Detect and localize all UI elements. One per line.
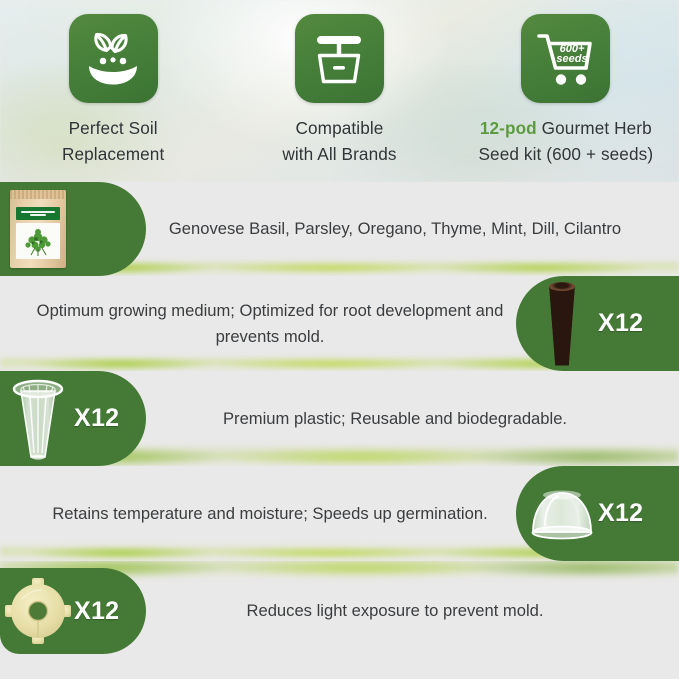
- seed-packet-label: [16, 207, 60, 220]
- quantity-badge: X12: [598, 499, 643, 528]
- dome-lid-panel: X12: [516, 466, 679, 561]
- cart-badge-line2: seeds: [556, 53, 587, 65]
- header-feature-strip: Perfect Soil Replacement: [0, 0, 679, 182]
- header-feature-label-line1-rest: Gourmet Herb: [537, 118, 652, 138]
- feature-row-plastic-basket: X12 Premium plastic; Reusable and biodeg…: [0, 371, 679, 466]
- product-feature-infographic: Perfect Soil Replacement: [0, 0, 679, 679]
- feature-row-text: Genovese Basil, Parsley, Oregano, Thyme,…: [150, 182, 640, 276]
- feature-row-text: Optimum growing medium; Optimized for ro…: [20, 276, 520, 371]
- plastic-basket-graphic: [12, 377, 64, 461]
- grow-sponge-graphic: [548, 282, 576, 366]
- header-feature-seed-kit: 600+ seeds 12-pod Gourmet Herb Seed kit …: [453, 0, 679, 167]
- dome-lid-image: [530, 475, 594, 553]
- feature-row-light-shield: X12 Reduces light exposure to prevent mo…: [0, 561, 679, 679]
- hydroponic-planter-icon: [295, 14, 384, 103]
- soil-leaves-icon: [69, 14, 158, 103]
- light-shield-panel: X12: [0, 568, 146, 654]
- dome-lid-graphic: [525, 486, 599, 542]
- header-feature-label: Perfect Soil Replacement: [62, 115, 164, 167]
- quantity-badge: X12: [74, 597, 119, 626]
- seed-packet-image: [6, 190, 70, 268]
- feature-rows: Genovese Basil, Parsley, Oregano, Thyme,…: [0, 182, 679, 679]
- pod-count-accent: 12-pod: [480, 118, 537, 138]
- light-shield-graphic: [4, 577, 72, 645]
- header-feature-label-line2: Seed kit (600 + seeds): [478, 141, 653, 167]
- grow-sponge-image: [530, 281, 594, 367]
- quantity-badge: X12: [74, 404, 119, 433]
- plastic-basket-image: [6, 376, 70, 462]
- header-feature-compatibility: Compatible with All Brands: [226, 0, 452, 167]
- plastic-basket-panel: X12: [0, 371, 146, 466]
- grow-sponge-panel: X12: [516, 276, 679, 371]
- header-feature-label-line2: Replacement: [62, 141, 164, 167]
- header-feature-label: Compatible with All Brands: [282, 115, 396, 167]
- header-feature-label-line1: Compatible: [282, 115, 396, 141]
- feature-row-text: Premium plastic; Reusable and biodegrada…: [150, 371, 640, 466]
- header-feature-soil-replacement: Perfect Soil Replacement: [0, 0, 226, 167]
- light-shield-image: [6, 572, 70, 650]
- shopping-cart-icon: 600+ seeds: [521, 14, 610, 103]
- feature-row-dome-lid: X12 Retains temperature and moisture; Sp…: [0, 466, 679, 561]
- header-feature-label-line1: Perfect Soil: [62, 115, 164, 141]
- seed-packet-graphic: [10, 190, 66, 268]
- header-feature-label-line2: with All Brands: [282, 141, 396, 167]
- seed-packet-panel: [0, 182, 146, 276]
- seed-packet-herb-photo: [16, 223, 60, 259]
- feature-row-text: Reduces light exposure to prevent mold.: [150, 568, 640, 654]
- feature-row-growing-medium: X12 Optimum growing medium; Optimized fo…: [0, 276, 679, 371]
- quantity-badge: X12: [598, 309, 643, 338]
- header-feature-label-line1: 12-pod Gourmet Herb: [478, 115, 653, 141]
- feature-row-text: Retains temperature and moisture; Speeds…: [20, 466, 520, 561]
- header-feature-label: 12-pod Gourmet Herb Seed kit (600 + seed…: [478, 115, 653, 167]
- feature-row-seed-varieties: Genovese Basil, Parsley, Oregano, Thyme,…: [0, 182, 679, 276]
